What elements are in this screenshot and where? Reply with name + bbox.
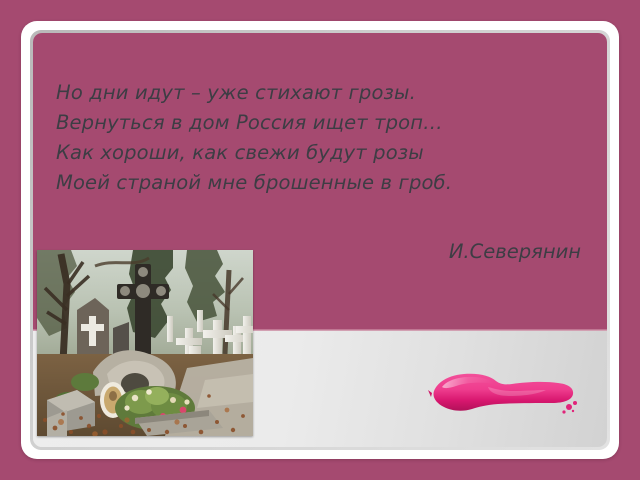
poem-block: Но дни идут – уже стихают грозы. Вернуть… xyxy=(56,78,556,198)
poem-line: Но дни идут – уже стихают грозы. xyxy=(56,78,556,108)
poem-attribution: И.Северянин xyxy=(449,239,581,265)
slide: Но дни идут – уже стихают грозы. Вернуть… xyxy=(0,0,640,480)
poem-line: Как хороши, как свежи будут розы xyxy=(56,138,556,168)
poem-line: Моей страной мне брошенные в гроб. xyxy=(56,168,556,198)
slide-content-plate: Но дни идут – уже стихают грозы. Вернуть… xyxy=(33,33,607,447)
poem-line: Вернуться в дом Россия ищет троп… xyxy=(56,108,556,138)
cemetery-photo xyxy=(37,250,253,436)
